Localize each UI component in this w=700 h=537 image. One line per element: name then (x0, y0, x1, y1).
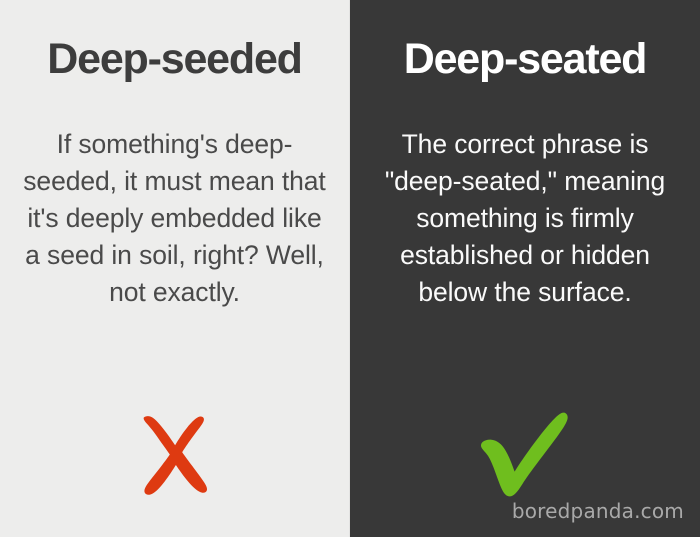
boredpanda-watermark: boredpanda.com (512, 499, 684, 523)
panel-correct: Deep-seated The correct phrase is "deep-… (350, 0, 700, 537)
left-panel-title: Deep-seeded (0, 38, 349, 81)
panel-incorrect: Deep-seeded If something's deep-seeded, … (0, 0, 350, 537)
left-mark-container (0, 405, 349, 505)
check-mark-icon (481, 410, 569, 500)
right-panel-body-text: The correct phrase is "deep-seated," mea… (372, 126, 678, 311)
right-panel-title: Deep-seated (350, 38, 700, 81)
left-panel-body-text: If something's deep-seeded, it must mean… (22, 126, 327, 311)
cross-mark-icon (136, 414, 214, 496)
comparison-card: Deep-seeded If something's deep-seeded, … (0, 0, 700, 537)
right-mark-container (350, 405, 700, 505)
